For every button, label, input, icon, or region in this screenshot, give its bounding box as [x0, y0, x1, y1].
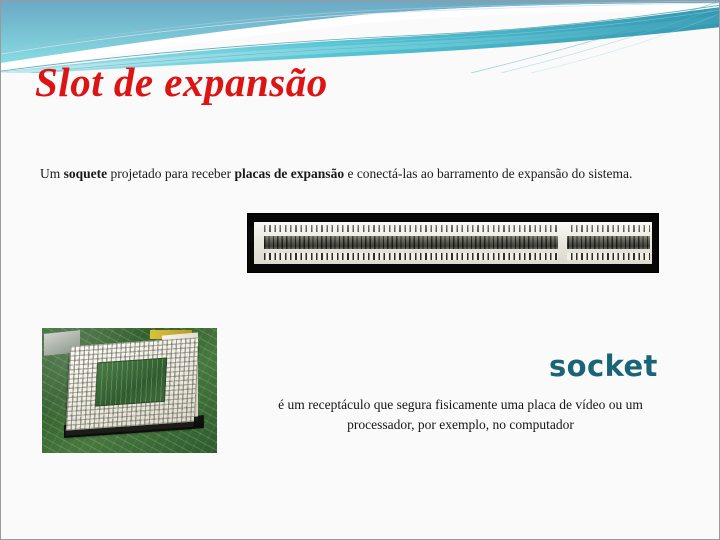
paragraph-part-3: e conectá-las ao barramento de expansão …	[344, 166, 632, 181]
socket-caption: é um receptáculo que segura fisicamente …	[253, 395, 668, 435]
body-paragraph: Um soquete projetado para receber placas…	[40, 164, 665, 183]
paragraph-part-1: Um	[40, 166, 64, 181]
cpu-socket-photo	[42, 328, 217, 453]
slot-connector-body	[254, 222, 652, 264]
page-title: Slot de expansão	[35, 61, 328, 104]
paragraph-bold-placas-de-expansao: placas de expansão	[235, 166, 345, 181]
zif-socket-body	[66, 337, 198, 430]
slot-highlight	[254, 222, 652, 239]
paragraph-bold-soquete: soquete	[64, 166, 108, 181]
socket-caption-line-1: é um receptáculo que segura fisicamente …	[278, 397, 572, 412]
socket-center-window	[95, 358, 167, 407]
presentation-slide: Slot de expansão Um soquete projetado pa…	[0, 0, 720, 540]
socket-heading: socket	[549, 349, 658, 383]
paragraph-part-2: projetado para receber	[107, 166, 234, 181]
expansion-slot-photo	[248, 214, 658, 272]
slot-pin-row-bottom	[264, 253, 650, 260]
